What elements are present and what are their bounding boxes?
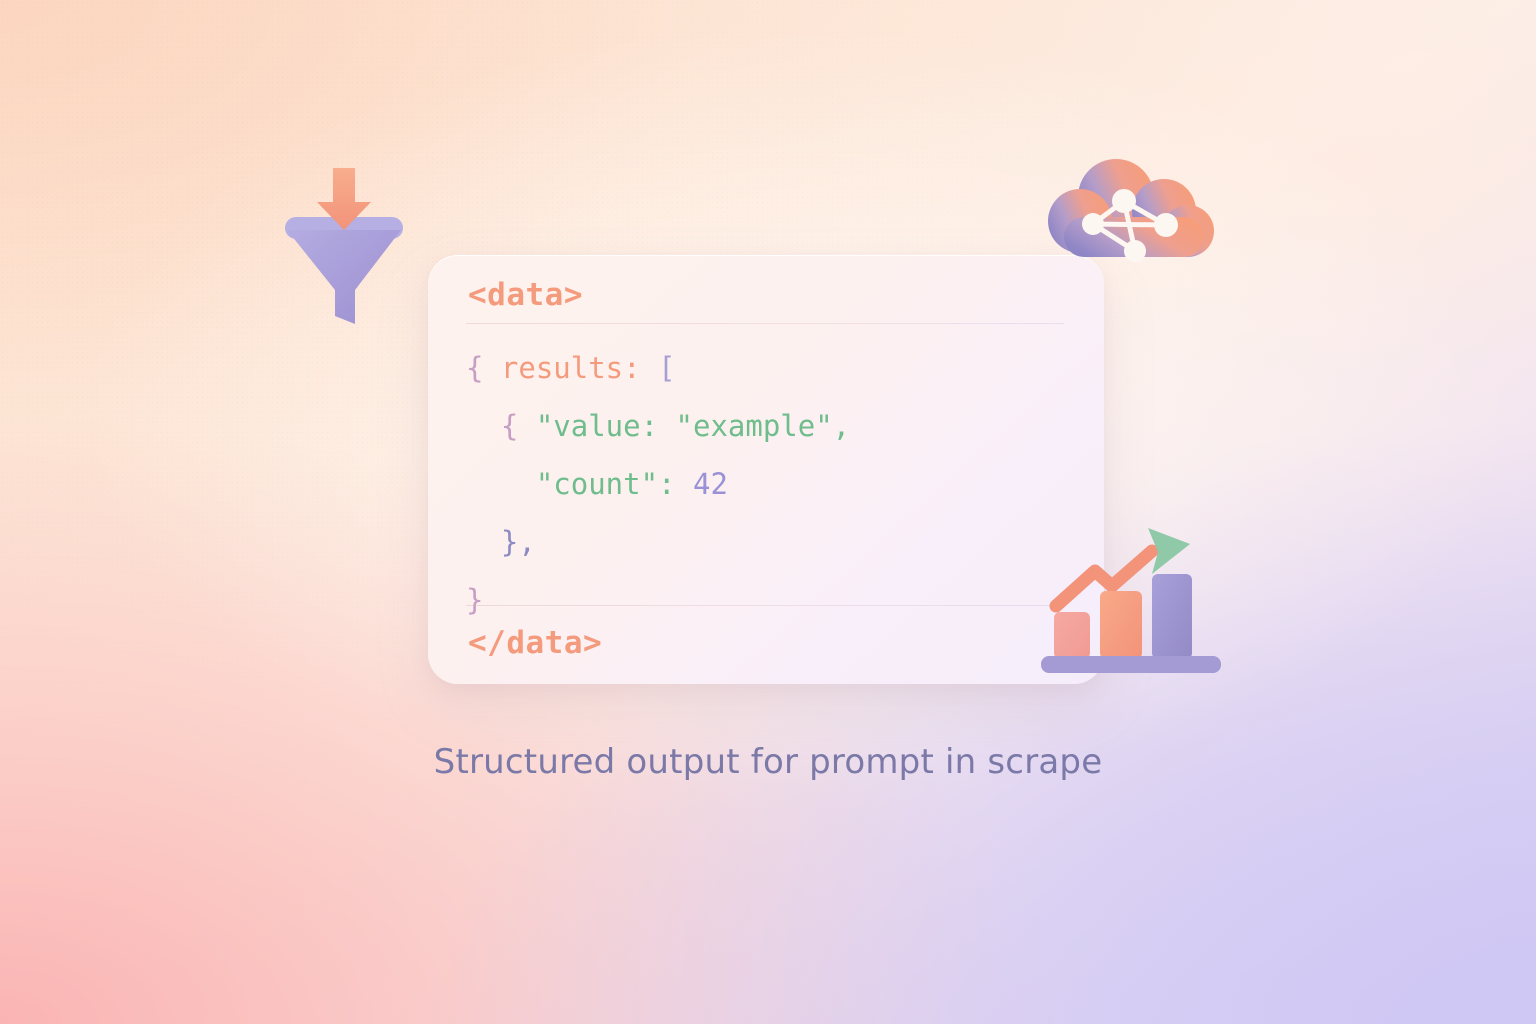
- cloud-network-icon: [1038, 155, 1222, 273]
- code-token-number: 42: [693, 467, 728, 501]
- code-line: },: [466, 513, 1076, 571]
- bar-2-shape: [1100, 591, 1142, 659]
- code-line: { "value: "example",: [466, 397, 1076, 455]
- chart-base-shape: [1041, 656, 1221, 673]
- structured-output-code-card: <data> { results: [ { "value: "example",…: [428, 255, 1104, 684]
- bar-1-shape: [1054, 612, 1090, 659]
- funnel-cone-shape: [287, 230, 401, 324]
- code-token-string: "count":: [536, 467, 693, 501]
- code-token-string: "value: "example",: [536, 409, 850, 443]
- code-token-key: results:: [501, 351, 658, 385]
- code-indent: [466, 467, 536, 501]
- data-open-tag: <data>: [468, 277, 583, 313]
- code-token-brace-b: },: [501, 525, 536, 559]
- code-token-brace-a: {: [466, 351, 501, 385]
- data-close-tag: </data>: [468, 625, 602, 661]
- json-code-block: { results: [ { "value: "example", "count…: [466, 339, 1076, 629]
- code-token-brace-a: }: [466, 583, 483, 617]
- code-indent: [466, 409, 501, 443]
- page-caption: Structured output for prompt in scrape: [0, 742, 1536, 782]
- card-divider-top: [466, 323, 1064, 324]
- code-line: { results: [: [466, 339, 1076, 397]
- code-token-brace-a: {: [501, 409, 536, 443]
- code-indent: [466, 525, 501, 559]
- bar-3-shape: [1152, 574, 1192, 659]
- code-token-bracket: [: [658, 351, 675, 385]
- card-divider-bottom: [466, 605, 1064, 606]
- filter-funnel-icon: [283, 168, 405, 328]
- code-line: "count": 42: [466, 455, 1076, 513]
- growth-bar-chart-icon: [1040, 516, 1226, 681]
- code-line: }: [466, 571, 1076, 629]
